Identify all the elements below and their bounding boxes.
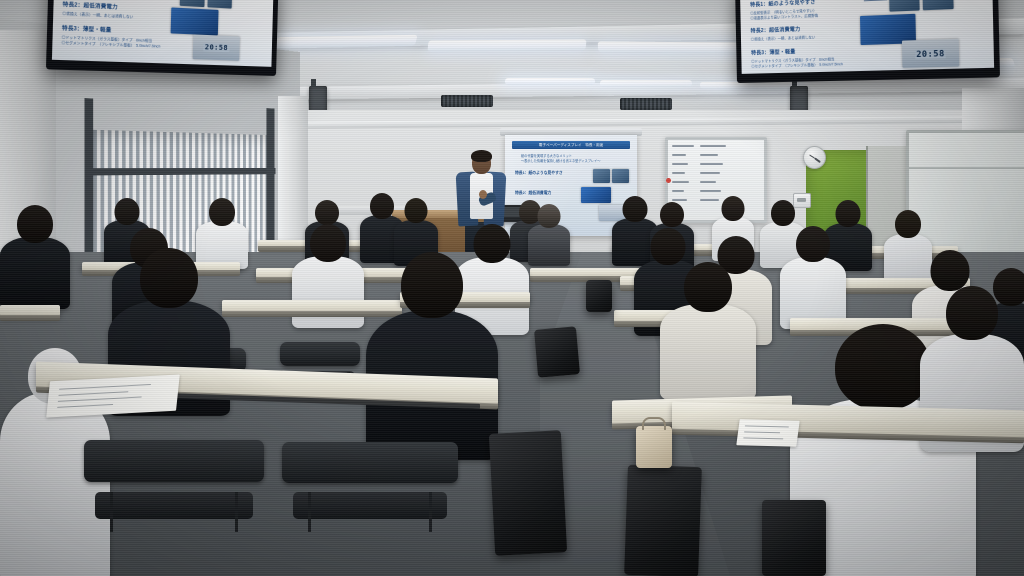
presenter-hair bbox=[471, 150, 492, 162]
audience-member bbox=[660, 262, 756, 394]
projection-slide-header: 電子ペーパーディスプレイ 特長・用途 bbox=[512, 141, 630, 149]
projection-slide-intro: 紙の代替を実現する大きなメリット ～表示した情報を保持し続ける省エネ型ディスプレ… bbox=[521, 154, 627, 164]
monitor-left-slide: ◎反射型表示 （明るいところで見やすい） ◎液晶表示より高いコントラスト、広視野… bbox=[52, 0, 274, 67]
floor-bag-side bbox=[534, 326, 580, 377]
ceiling-light-6 bbox=[600, 80, 692, 87]
projection-thumbnail-device-2 bbox=[612, 169, 629, 183]
slide-thumbnail-clock-right: 20:58 bbox=[902, 39, 959, 68]
slide-thumbnail-clock-left: 20:58 bbox=[193, 34, 240, 60]
lecture-chair bbox=[84, 440, 264, 532]
monitor-right-slide: 特長1：紙のような見やすさ ◎反射型表示 （明るいところで見やすい） ◎液晶表示… bbox=[740, 0, 994, 74]
floor-bag-paper bbox=[636, 426, 672, 468]
slide-bullet-no-2: 特長2 bbox=[63, 2, 78, 9]
slide-leader-line bbox=[864, 0, 887, 1]
whiteboard-magnet bbox=[666, 178, 671, 183]
floor-bag-right bbox=[586, 280, 612, 312]
floor-bag-far-right bbox=[762, 500, 826, 576]
slide-r-bullet-no-2: 特長2 bbox=[751, 28, 764, 35]
lecture-desk bbox=[0, 305, 60, 316]
slide-r-bullet-title-1: ：紙のような見やすさ bbox=[763, 0, 815, 8]
audience-member bbox=[528, 204, 570, 262]
projection-thumbnail-device bbox=[593, 169, 610, 183]
audience-member bbox=[366, 252, 498, 452]
projection-thumbnail-screen bbox=[581, 187, 611, 203]
handout-front-left bbox=[46, 374, 180, 417]
floor-bag-briefcase-left bbox=[489, 430, 567, 556]
presenter-hand bbox=[479, 190, 487, 199]
seminar-room-photo: ◎反射型表示 （明るいところで見やすい） ◎液晶表示より高いコントラスト、広視野… bbox=[0, 0, 1024, 576]
slide-bullet-no-3: 特長3 bbox=[62, 25, 77, 32]
ceiling-light-7 bbox=[700, 82, 799, 89]
projection-bullet-2: 特長2：超低消費電力 bbox=[515, 191, 551, 196]
audience-member bbox=[0, 205, 70, 305]
ceiling-light-2 bbox=[427, 39, 586, 51]
ceiling-speaker-right bbox=[790, 86, 808, 112]
hvac-vent-right bbox=[620, 98, 672, 110]
slide-thumbnail-device-right bbox=[889, 0, 920, 12]
ceiling-light-5 bbox=[505, 78, 595, 85]
ceiling-light-3 bbox=[598, 41, 751, 53]
slide-bullet-title-3: ：薄型・軽量 bbox=[77, 26, 112, 34]
slide-thumbnail-device-left-2 bbox=[207, 0, 232, 9]
window-mullion-horizontal bbox=[84, 168, 275, 175]
floor-bag-briefcase-center bbox=[624, 465, 702, 576]
wall-clock bbox=[803, 146, 826, 169]
slide-thumbnail-device-right-2 bbox=[922, 0, 953, 10]
slide-clock-time-left: 20:58 bbox=[204, 43, 230, 52]
slide-r-bullet-no-1: 特長1 bbox=[750, 2, 763, 9]
slide-thumbnail-device-left bbox=[180, 0, 205, 7]
slide-r-bullet-title-3: ：薄型・軽量 bbox=[764, 49, 795, 56]
hvac-vent-left bbox=[441, 95, 493, 107]
ceiling-speaker-left bbox=[309, 86, 327, 112]
slide-r-bullet-no-3: 特長3 bbox=[751, 50, 764, 56]
slide-bullet-title-2: ：超低消費電力 bbox=[78, 2, 118, 10]
bag-handle bbox=[642, 417, 666, 430]
slide-clock-time-right: 20:58 bbox=[915, 48, 946, 58]
handout-front-right bbox=[736, 419, 799, 446]
audience-member bbox=[780, 226, 846, 326]
slide-thumbnail-screen-left bbox=[171, 7, 219, 35]
ceiling-monitor-left: ◎反射型表示 （明るいところで見やすい） ◎液晶表示より高いコントラスト、広視野… bbox=[46, 0, 279, 76]
ceiling-monitor-right: 特長1：紙のような見やすさ ◎反射型表示 （明るいところで見やすい） ◎液晶表示… bbox=[735, 0, 1000, 83]
projection-bullet-1: 特長1：紙のような見やすさ bbox=[515, 171, 563, 176]
lecture-chair bbox=[282, 442, 458, 532]
slide-r-bullet-title-2: ：超低消費電力 bbox=[764, 27, 801, 34]
